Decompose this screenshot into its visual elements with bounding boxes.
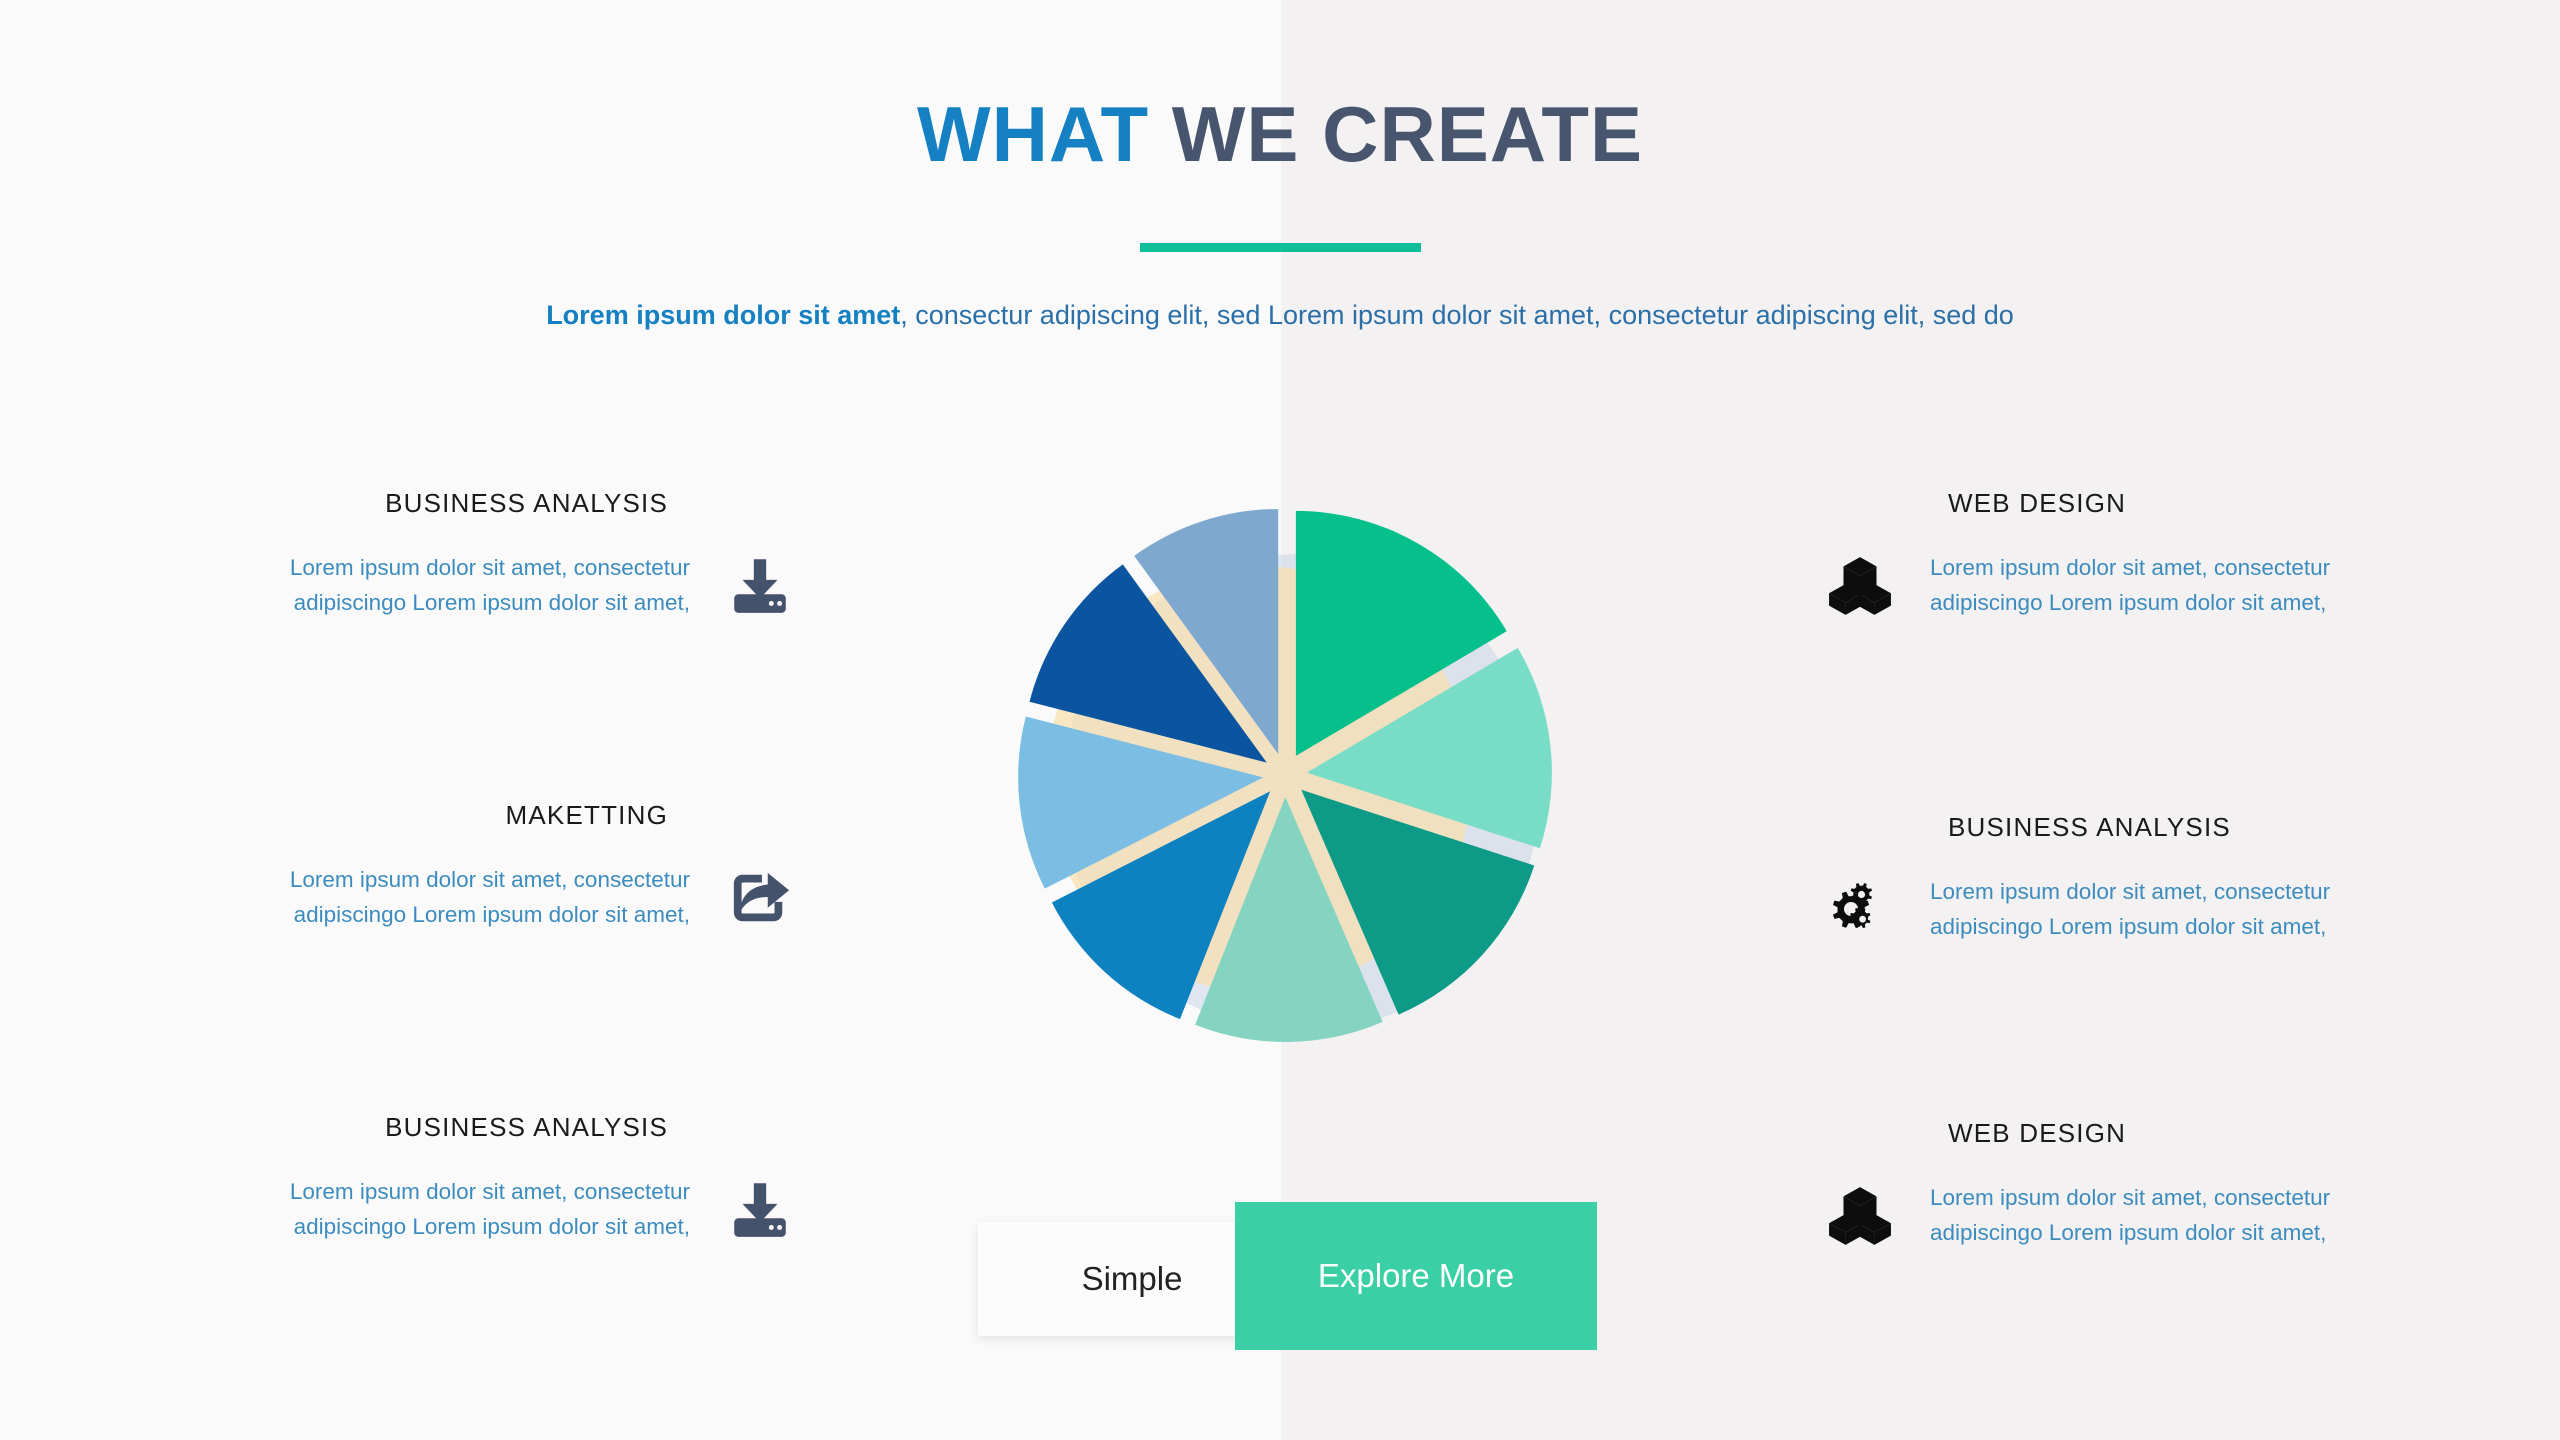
explore-more-button[interactable]: Explore More — [1235, 1202, 1597, 1350]
feature-body: Lorem ipsum dolor sit amet, consectetur … — [240, 551, 690, 621]
feature-text-block: BUSINESS ANALYSIS Lorem ipsum dolor sit … — [1900, 812, 2380, 945]
feature-body: Lorem ipsum dolor sit amet, consectetur … — [240, 863, 690, 933]
page-title: WHAT WE CREATE — [0, 95, 2560, 173]
feature-item-business-analysis-1[interactable]: BUSINESS ANALYSIS Lorem ipsum dolor sit … — [240, 488, 850, 626]
download-icon[interactable] — [720, 1170, 800, 1250]
feature-text-block: BUSINESS ANALYSIS Lorem ipsum dolor sit … — [240, 488, 720, 621]
feature-item-business-analysis-3[interactable]: BUSINESS ANALYSIS Lorem ipsum dolor sit … — [1820, 812, 2430, 950]
subtitle-lead: Lorem ipsum dolor sit amet — [546, 300, 900, 330]
download-icon[interactable] — [720, 546, 800, 626]
feature-item-business-analysis-2[interactable]: BUSINESS ANALYSIS Lorem ipsum dolor sit … — [240, 1112, 850, 1250]
feature-item-web-design-1[interactable]: WEB DESIGN Lorem ipsum dolor sit amet, c… — [1820, 488, 2430, 626]
cubes-icon[interactable] — [1820, 546, 1900, 626]
feature-item-web-design-2[interactable]: WEB DESIGN Lorem ipsum dolor sit amet, c… — [1820, 1118, 2430, 1256]
feature-title: BUSINESS ANALYSIS — [240, 1112, 690, 1143]
feature-text-block: WEB DESIGN Lorem ipsum dolor sit amet, c… — [1900, 488, 2380, 621]
feature-body: Lorem ipsum dolor sit amet, consectetur … — [1930, 551, 2380, 621]
subtitle-rest: , consectur adipiscing elit, sed Lorem i… — [900, 300, 2014, 330]
page-subtitle: Lorem ipsum dolor sit amet, consectur ad… — [530, 295, 2030, 336]
feature-body: Lorem ipsum dolor sit amet, consectetur … — [1930, 1181, 2380, 1251]
title-underline-bar — [1140, 243, 1421, 252]
feature-title: BUSINESS ANALYSIS — [1930, 812, 2380, 843]
feature-item-maketting[interactable]: MAKETTING Lorem ipsum dolor sit amet, co… — [240, 800, 850, 938]
feature-text-block: MAKETTING Lorem ipsum dolor sit amet, co… — [240, 800, 720, 933]
cubes-icon[interactable] — [1820, 1176, 1900, 1256]
page-title-accent: WHAT — [917, 90, 1149, 178]
pie-chart — [980, 470, 1580, 1100]
gears-icon[interactable] — [1820, 870, 1900, 950]
feature-title: MAKETTING — [240, 800, 690, 831]
page-title-main: WE CREATE — [1172, 90, 1643, 178]
feature-text-block: WEB DESIGN Lorem ipsum dolor sit amet, c… — [1900, 1118, 2380, 1251]
feature-title: WEB DESIGN — [1930, 488, 2380, 519]
feature-body: Lorem ipsum dolor sit amet, consectetur … — [240, 1175, 690, 1245]
share-icon[interactable] — [720, 858, 800, 938]
feature-title: WEB DESIGN — [1930, 1118, 2380, 1149]
feature-body: Lorem ipsum dolor sit amet, consectetur … — [1930, 875, 2380, 945]
feature-text-block: BUSINESS ANALYSIS Lorem ipsum dolor sit … — [240, 1112, 720, 1245]
feature-title: BUSINESS ANALYSIS — [240, 488, 690, 519]
slide-stage: WHAT WE CREATE Lorem ipsum dolor sit ame… — [0, 0, 2560, 1440]
